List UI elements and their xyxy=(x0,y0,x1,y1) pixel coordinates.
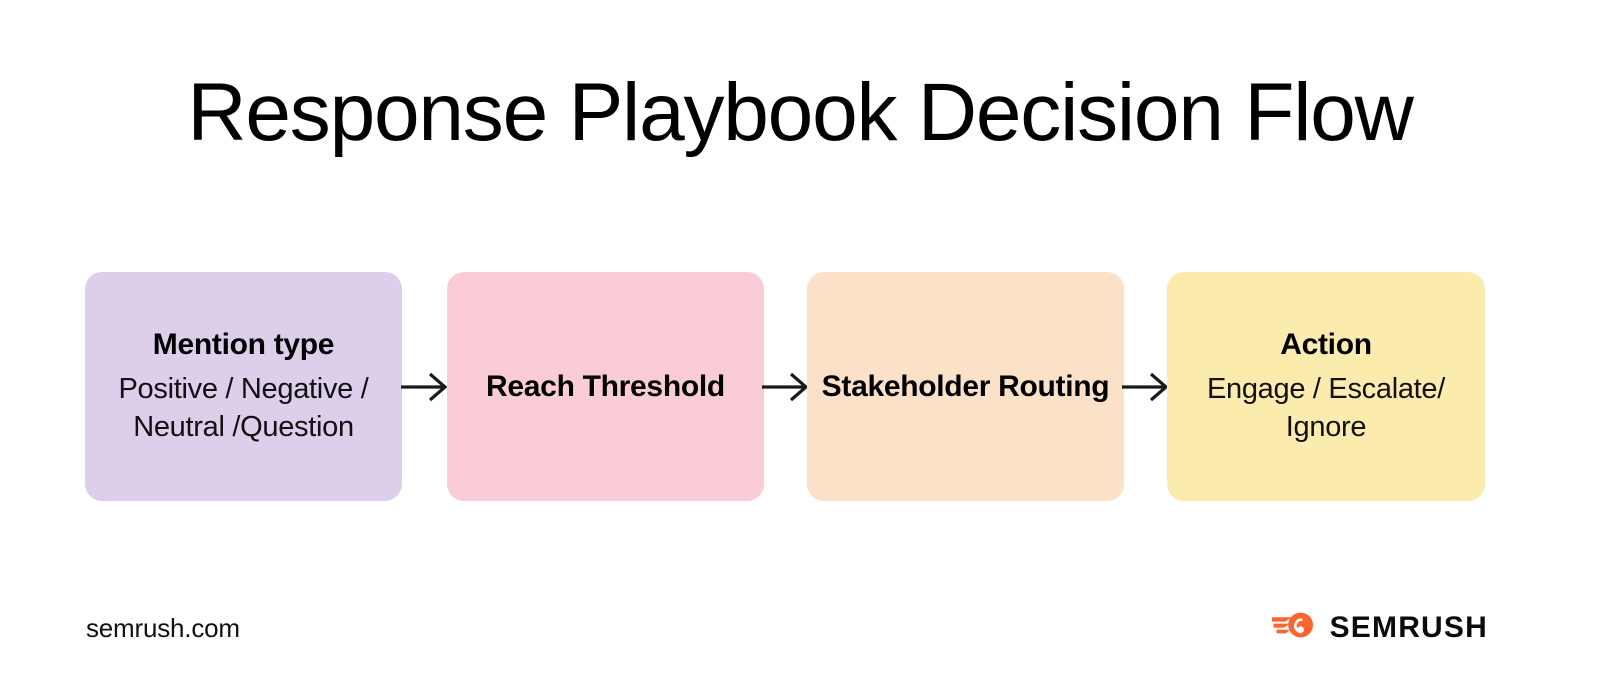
flow-node-reach-threshold[interactable]: Reach Threshold xyxy=(447,272,764,501)
flow-node-title: Stakeholder Routing xyxy=(822,368,1110,406)
footer-domain: semrush.com xyxy=(86,613,240,644)
flow-node-subtitle: Positive / Negative / Neutral /Question xyxy=(99,370,388,447)
flow-node-action[interactable]: Action Engage / Escalate/ Ignore xyxy=(1167,272,1485,501)
flow-node-mention-type[interactable]: Mention type Positive / Negative / Neutr… xyxy=(85,272,402,501)
flow-node-subtitle: Engage / Escalate/ Ignore xyxy=(1181,370,1471,447)
arrow-right-icon xyxy=(761,368,809,406)
semrush-wordmark: SEMRUSH xyxy=(1330,613,1488,643)
diagram-canvas: Response Playbook Decision Flow Mention … xyxy=(0,0,1600,686)
flow-node-title: Mention type xyxy=(153,327,334,364)
semrush-comet-icon xyxy=(1272,608,1318,647)
flow-diagram: Mention type Positive / Negative / Neutr… xyxy=(85,272,1485,501)
flow-node-title: Action xyxy=(1280,327,1372,364)
arrow-right-icon xyxy=(400,368,448,406)
flow-node-stakeholder-routing[interactable]: Stakeholder Routing xyxy=(807,272,1124,501)
flow-node-title: Reach Threshold xyxy=(486,368,725,406)
page-title: Response Playbook Decision Flow xyxy=(0,72,1600,154)
semrush-logo: SEMRUSH xyxy=(1272,608,1488,647)
arrow-right-icon xyxy=(1121,368,1169,406)
